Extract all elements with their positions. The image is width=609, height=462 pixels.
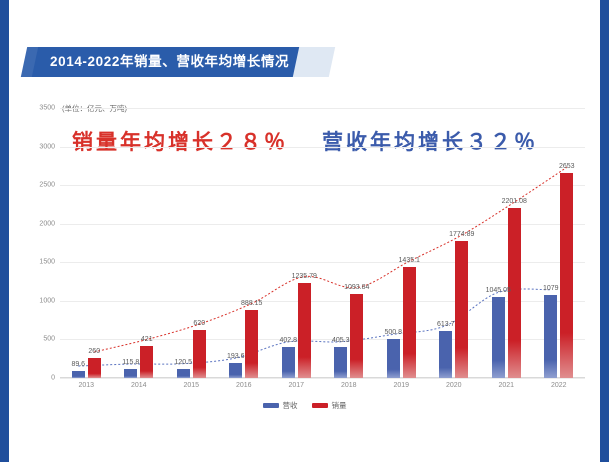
bar-sales [245,310,258,379]
x-tick-label: 2015 [183,382,199,389]
x-tick-label: 2022 [551,382,567,389]
y-tick-label: 2000 [39,220,55,227]
x-axis-labels: 2013201420152016201720182019202020212022 [60,382,585,394]
y-tick-label: 1500 [39,259,55,266]
bar-group: 402.81235.79 [282,108,311,378]
data-label-revenue: 1045.05 [486,287,511,294]
chart-page: 2014-2022年销量、营收年均增长情况 (单位：亿元、万吨) 销量年均增长２… [0,0,609,462]
data-label-revenue: 405.3 [332,337,350,344]
bar-group: 115.8421 [124,108,153,378]
bar-revenue [177,369,190,378]
left-accent-bar [0,0,9,462]
y-tick-label: 1000 [39,297,55,304]
legend-item[interactable]: 销量 [312,400,347,411]
bar-group: 405.31093.84 [334,108,363,378]
data-label-sales: 1774.89 [449,231,474,238]
banner-tail [293,47,335,77]
data-label-revenue: 89.6 [71,361,85,368]
data-label-sales: 421 [141,336,153,343]
legend-label: 营收 [283,400,298,411]
data-label-revenue: 120.5 [174,359,192,366]
x-tick-label: 2014 [131,382,147,389]
x-tick-label: 2021 [498,382,514,389]
chart-legend: 营收销量 [0,400,609,411]
data-label-sales: 620 [193,320,205,327]
y-tick-label: 500 [43,336,55,343]
data-label-sales: 2653 [559,163,575,170]
bar-group: 89.6260 [72,108,101,378]
bar-revenue [229,363,242,378]
title-banner: 2014-2022年销量、营收年均增长情况 [24,47,334,77]
bar-group: 193.6888.15 [229,108,258,378]
legend-item[interactable]: 营收 [263,400,298,411]
data-label-sales: 888.15 [241,300,262,307]
gridline [60,378,585,379]
right-accent-bar [600,0,609,462]
plot-area: 0500100015002000250030003500 89.6260115.… [60,108,585,378]
y-tick-label: 3000 [39,143,55,150]
x-tick-label: 2016 [236,382,252,389]
bar-sales [560,173,573,378]
data-label-revenue: 613.7 [437,321,455,328]
bar-revenue [492,297,505,378]
bar-sales [140,346,153,378]
page-title: 2014-2022年销量、营收年均增长情况 [50,47,289,77]
bar-revenue [334,347,347,378]
legend-swatch [312,403,328,408]
bar-sales [193,330,206,378]
y-tick-label: 0 [51,375,55,382]
bar-sales [88,358,101,378]
legend-swatch [263,403,279,408]
data-label-sales: 1235.79 [292,273,317,280]
bar-group: 613.71774.89 [439,108,468,378]
bar-revenue [282,347,295,378]
bar-revenue [439,331,452,378]
bar-sales [403,267,416,378]
bar-group: 1045.052201.08 [492,108,521,378]
data-label-revenue: 193.6 [227,353,245,360]
y-tick-label: 2500 [39,182,55,189]
bar-group: 500.81435.1 [387,108,416,378]
bar-sales [350,294,363,378]
x-tick-label: 2018 [341,382,357,389]
bar-revenue [544,295,557,378]
data-label-sales: 260 [88,348,100,355]
data-label-revenue: 500.8 [384,329,402,336]
data-label-sales: 2201.08 [502,198,527,205]
bar-group: 10792653 [544,108,573,378]
data-label-revenue: 1079 [543,285,559,292]
bar-revenue [387,339,400,378]
bar-revenue [124,369,137,378]
x-tick-label: 2017 [288,382,304,389]
bar-sales [455,241,468,378]
bar-sales [298,283,311,378]
bar-revenue [72,371,85,378]
y-tick-label: 3500 [39,105,55,112]
bar-group: 120.5620 [177,108,206,378]
data-label-sales: 1093.84 [344,284,369,291]
data-label-revenue: 115.8 [122,359,139,366]
legend-label: 销量 [332,400,347,411]
x-tick-label: 2013 [78,382,94,389]
data-label-sales: 1435.1 [399,257,420,264]
bar-series: 89.6260115.8421120.5620193.6888.15402.81… [60,108,585,378]
x-tick-label: 2020 [446,382,462,389]
data-label-revenue: 402.8 [279,337,297,344]
x-tick-label: 2019 [393,382,409,389]
